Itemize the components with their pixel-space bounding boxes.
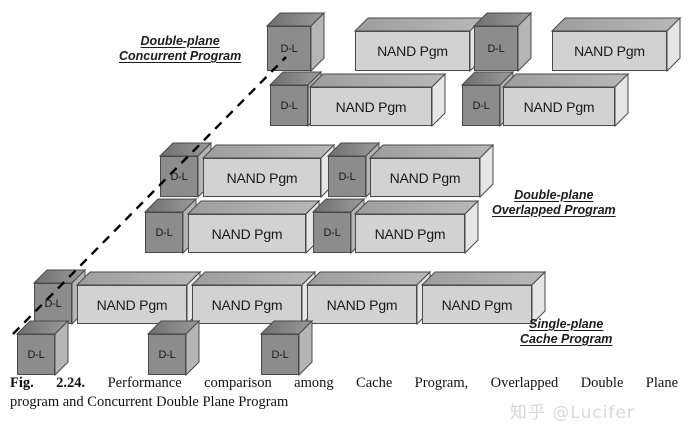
dl-block-label: D-L [474,26,518,71]
nand-pgm-block: NAND Pgm [188,201,319,253]
nand-pgm-block: NAND Pgm [355,18,483,71]
group-label-line1: Double-plane [119,34,241,49]
nand-pgm-block: NAND Pgm [370,145,493,197]
nand-pgm-block-label: NAND Pgm [552,31,667,71]
nand-pgm-block: NAND Pgm [192,272,315,324]
group-label-line1: Double-plane [492,188,616,203]
dl-block: D-L [267,13,324,71]
nand-pgm-block: NAND Pgm [203,145,334,197]
group-label-line1: Single-plane [520,317,612,332]
dl-block-label: D-L [17,334,55,375]
group-label-line2: Cache Program [520,332,612,347]
dl-block-label: D-L [145,212,183,253]
dl-block-label: D-L [267,26,311,71]
group-label-line2: Concurrent Program [119,49,241,64]
group-label-double-plane-overlapped: Double-planeOverlapped Program [492,188,616,218]
group-label-single-plane-cache: Single-planeCache Program [520,317,612,347]
caption-figure-number: Fig. 2.24. [10,375,85,391]
dl-block-label: D-L [34,283,72,324]
group-label-double-plane-concurrent: Double-planeConcurrent Program [119,34,241,64]
group-label-line2: Overlapped Program [492,203,616,218]
dl-block-label: D-L [261,334,299,375]
nand-pgm-block: NAND Pgm [77,272,200,324]
dl-block: D-L [17,321,68,375]
nand-pgm-block-label: NAND Pgm [370,158,480,197]
nand-pgm-block-label: NAND Pgm [203,158,321,197]
nand-pgm-block-label: NAND Pgm [188,214,306,253]
dl-block-label: D-L [148,334,186,375]
nand-pgm-block-label: NAND Pgm [503,87,615,126]
dl-block-label: D-L [328,156,366,197]
figure-diagram: D-LNAND PgmD-LNAND PgmD-LNAND PgmD-LNAND… [0,0,697,370]
nand-pgm-block-label: NAND Pgm [192,285,302,324]
dl-block-label: D-L [462,85,500,126]
nand-pgm-block-label: NAND Pgm [307,285,417,324]
watermark: 知乎 @Lucifer [510,398,635,423]
nand-pgm-block: NAND Pgm [552,18,680,71]
nand-pgm-block: NAND Pgm [310,74,445,126]
nand-pgm-block-label: NAND Pgm [422,285,532,324]
dl-block: D-L [474,13,531,71]
nand-pgm-block: NAND Pgm [503,74,628,126]
nand-pgm-block: NAND Pgm [355,201,478,253]
dl-block-label: D-L [160,156,198,197]
nand-pgm-block-label: NAND Pgm [310,87,432,126]
dl-block-label: D-L [313,212,351,253]
nand-pgm-block-label: NAND Pgm [355,31,470,71]
caption-text-line1: Performance comparison among Cache Progr… [108,375,678,391]
nand-pgm-block: NAND Pgm [307,272,430,324]
nand-pgm-block-label: NAND Pgm [77,285,187,324]
dl-block-label: D-L [270,85,308,126]
dl-block: D-L [261,321,312,375]
dl-block: D-L [148,321,199,375]
nand-pgm-block-label: NAND Pgm [355,214,465,253]
